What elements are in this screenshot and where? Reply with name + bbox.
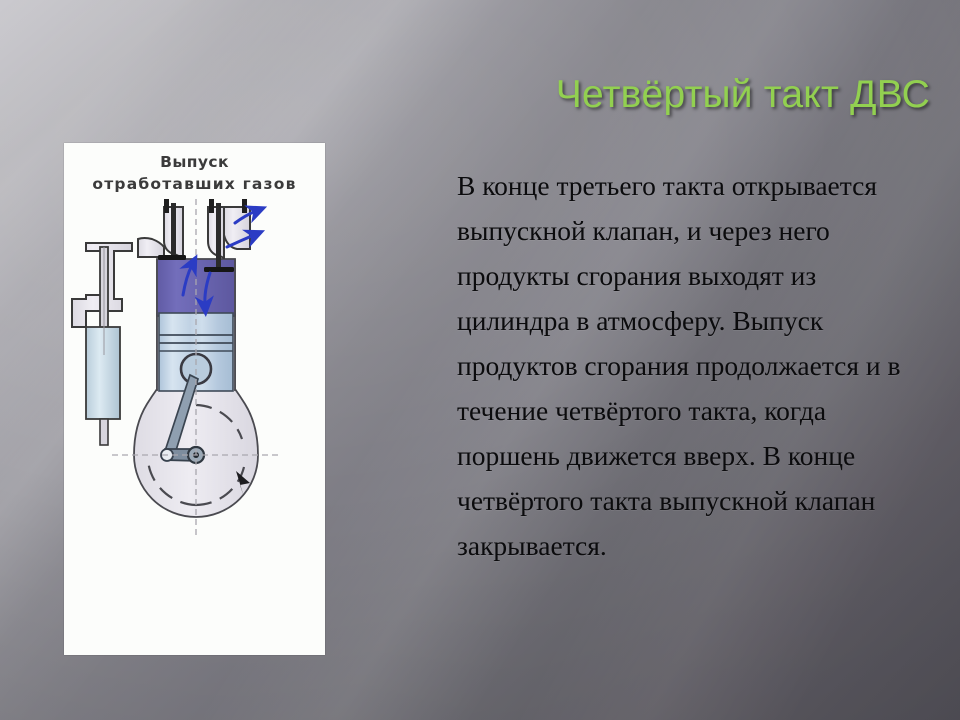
engine-cross-section-diagram [64,199,325,655]
diagram-caption-line-1: Выпуск [64,151,325,173]
engine-diagram-panel: Выпуск отработавших газов [64,143,325,655]
intake-valve-stem-top [164,199,169,213]
exhaust-valve-head-open [204,267,234,272]
body-paragraph: В конце третьего такта открывается выпус… [457,163,927,568]
cylinder-head [138,207,250,259]
slide: Четвёртый такт ДВС В конце третьего такт… [0,0,960,720]
diagram-caption: Выпуск отработавших газов [64,151,325,195]
valve-spring-assembly [72,243,132,445]
diagram-caption-line-2: отработавших газов [64,173,325,195]
spring-chamber [86,327,120,419]
intake-valve-head [158,255,186,260]
page-title: Четвёртый такт ДВС [330,72,930,118]
